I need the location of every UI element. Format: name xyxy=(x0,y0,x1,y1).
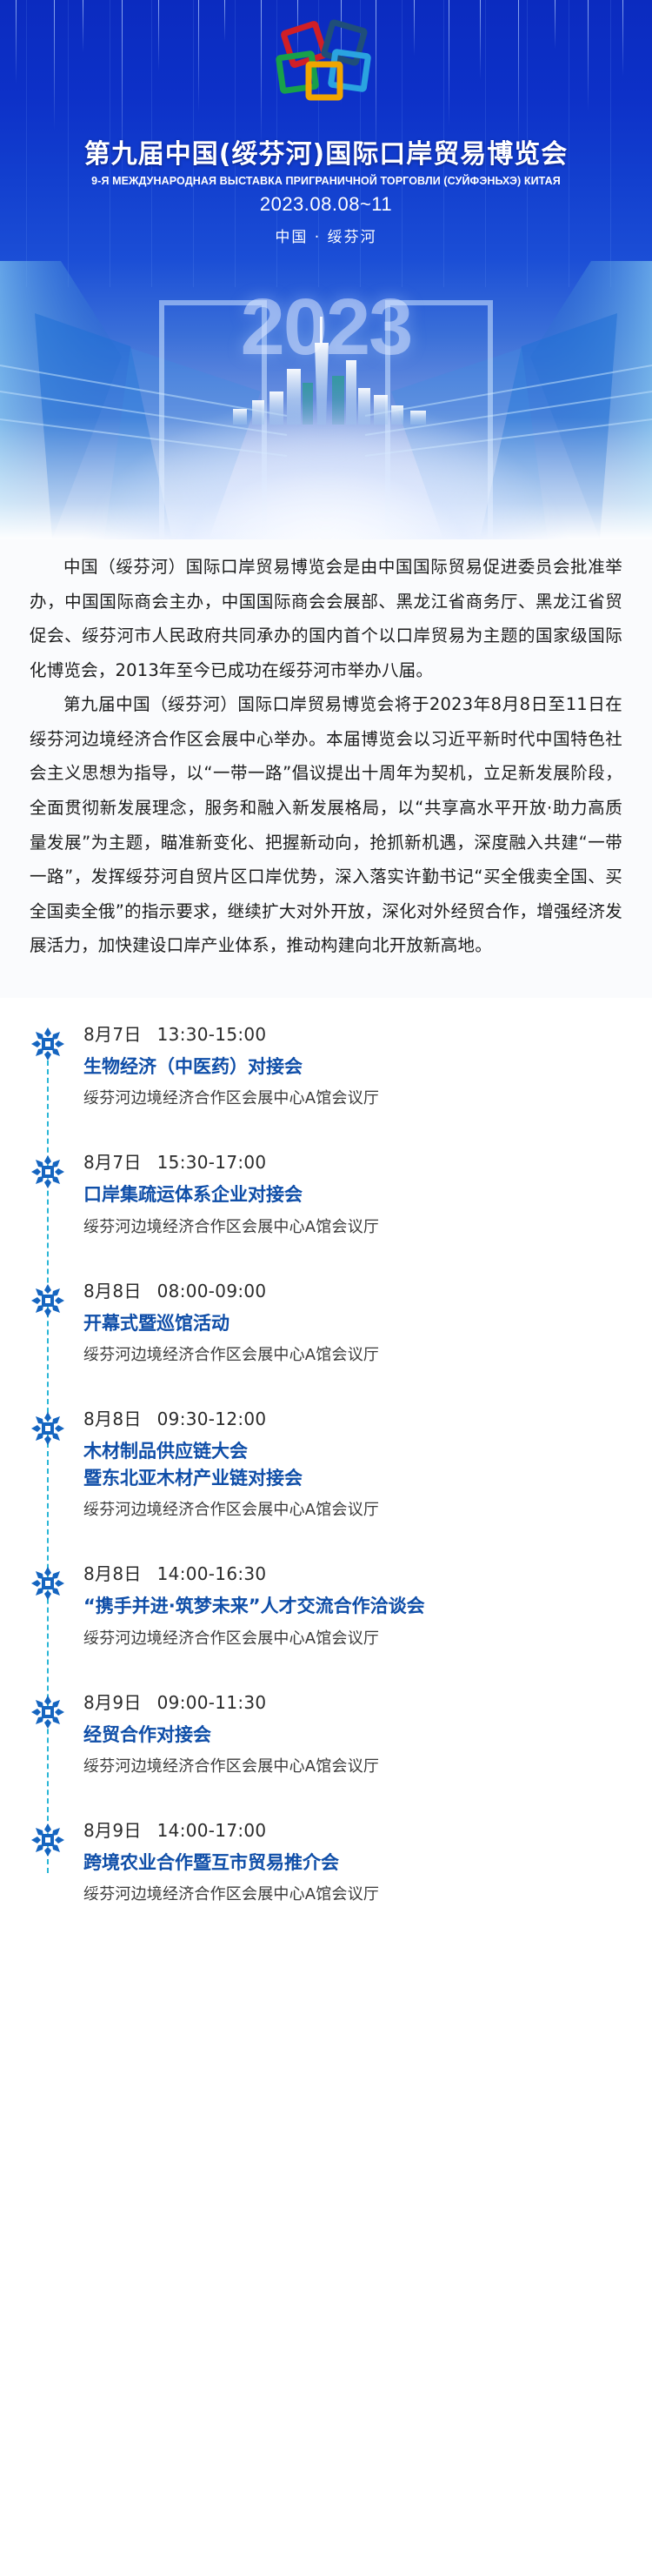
event-venue: 绥芬河边境经济合作区会展中心A馆会议厅 xyxy=(83,1342,628,1365)
brand-titles: 第九届中国(绥芬河)国际口岸贸易博览会 9-Я МЕЖДУНАРОДНАЯ ВЫ… xyxy=(0,132,652,187)
snowflake-marker-icon xyxy=(30,1822,66,1858)
page-subtitle-russian: 9-Я МЕЖДУНАРОДНАЯ ВЫСТАВКА ПРИГРАНИЧНОЙ … xyxy=(0,175,652,187)
event-city: 中国 · 绥芬河 xyxy=(0,224,652,246)
event-date: 8月8日 xyxy=(83,1563,142,1584)
event-venue: 绥芬河边境经济合作区会展中心A馆会议厅 xyxy=(83,1754,628,1776)
event-datetime: 8月8日09:30-12:00 xyxy=(83,1405,628,1430)
event-item[interactable]: 8月7日13:30-15:00生物经济（中医药）对接会绥芬河边境经济合作区会展中… xyxy=(0,1020,652,1108)
page-title: 第九届中国(绥芬河)国际口岸贸易博览会 xyxy=(0,132,652,171)
event-item[interactable]: 8月9日09:00-11:30经贸合作对接会绥芬河边境经济合作区会展中心A馆会议… xyxy=(0,1689,652,1776)
event-datetime: 8月7日13:30-15:00 xyxy=(83,1020,628,1046)
event-item[interactable]: 8月8日08:00-09:00开幕式暨巡馆活动绥芬河边境经济合作区会展中心A馆会… xyxy=(0,1277,652,1365)
event-time: 14:00-17:00 xyxy=(157,1820,267,1841)
hero-banner: 2023 xyxy=(0,0,652,539)
event-venue: 绥芬河边境经济合作区会展中心A馆会议厅 xyxy=(83,1882,628,1904)
snowflake-marker-icon xyxy=(30,1694,66,1730)
event-datetime: 8月8日14:00-16:30 xyxy=(83,1560,628,1585)
event-venue: 绥芬河边境经济合作区会展中心A馆会议厅 xyxy=(83,1086,628,1108)
snowflake-marker-icon xyxy=(30,1154,66,1190)
snowflake-marker-icon xyxy=(30,1410,66,1447)
event-title: 跨境农业合作暨互市贸易推介会 xyxy=(83,1850,628,1876)
snowflake-marker-icon xyxy=(30,1026,66,1062)
event-title: “携手并进·筑梦未来”人才交流合作洽谈会 xyxy=(83,1593,628,1619)
event-date: 8月8日 xyxy=(83,1281,142,1301)
event-item[interactable]: 8月9日14:00-17:00跨境农业合作暨互市贸易推介会绥芬河边境经济合作区会… xyxy=(0,1817,652,1904)
event-datetime: 8月8日08:00-09:00 xyxy=(83,1277,628,1302)
event-time: 13:30-15:00 xyxy=(157,1024,267,1045)
event-venue: 绥芬河边境经济合作区会展中心A馆会议厅 xyxy=(83,1497,628,1520)
event-date: 2023.08.08~11 xyxy=(0,193,652,216)
event-title: 暨东北亚木材产业链对接会 xyxy=(83,1465,628,1491)
event-title: 开幕式暨巡馆活动 xyxy=(83,1310,628,1336)
event-item[interactable]: 8月8日09:30-12:00木材制品供应链大会暨东北亚木材产业链对接会绥芬河边… xyxy=(0,1405,652,1520)
event-list: 8月7日13:30-15:00生物经济（中医药）对接会绥芬河边境经济合作区会展中… xyxy=(0,1020,652,1905)
event-item[interactable]: 8月8日14:00-16:30“携手并进·筑梦未来”人才交流合作洽谈会绥芬河边境… xyxy=(0,1560,652,1648)
intro-section: 中国（绥芬河）国际口岸贸易博览会是由中国国际贸易促进委员会批准举办，中国国际商会… xyxy=(0,539,652,998)
city-skyline-graphic xyxy=(183,311,469,425)
expo-poster-page: 2023 xyxy=(0,0,652,1957)
event-date: 8月9日 xyxy=(83,1692,142,1713)
snowflake-marker-icon xyxy=(30,1565,66,1602)
event-time: 14:00-16:30 xyxy=(157,1563,267,1584)
snowflake-marker-icon xyxy=(30,1282,66,1319)
event-title: 生物经济（中医药）对接会 xyxy=(83,1054,628,1080)
event-date: 8月8日 xyxy=(83,1408,142,1429)
event-time: 08:00-09:00 xyxy=(157,1281,267,1301)
event-title: 口岸集疏运体系企业对接会 xyxy=(83,1181,628,1208)
event-datetime: 8月9日14:00-17:00 xyxy=(83,1817,628,1842)
event-item[interactable]: 8月7日15:30-17:00口岸集疏运体系企业对接会绥芬河边境经济合作区会展中… xyxy=(0,1148,652,1236)
event-time: 15:30-17:00 xyxy=(157,1152,267,1173)
event-time: 09:00-11:30 xyxy=(157,1692,267,1713)
event-datetime: 8月9日09:00-11:30 xyxy=(83,1689,628,1714)
schedule-section: 8月7日13:30-15:00生物经济（中医药）对接会绥芬河边境经济合作区会展中… xyxy=(0,998,652,1957)
intro-paragraph-1: 中国（绥芬河）国际口岸贸易博览会是由中国国际贸易促进委员会批准举办，中国国际商会… xyxy=(30,550,622,687)
year-graphic: 2023 xyxy=(139,287,513,418)
event-date: 8月7日 xyxy=(83,1024,142,1045)
intro-paragraph-2: 第九届中国（绥芬河）国际口岸贸易博览会将于2023年8月8日至11日在绥芬河边境… xyxy=(30,687,622,963)
event-date: 8月7日 xyxy=(83,1152,142,1173)
event-title: 木材制品供应链大会 xyxy=(83,1438,628,1464)
event-title: 经贸合作对接会 xyxy=(83,1722,628,1748)
event-time: 09:30-12:00 xyxy=(157,1408,267,1429)
event-datetime: 8月7日15:30-17:00 xyxy=(83,1148,628,1174)
event-date: 8月9日 xyxy=(83,1820,142,1841)
event-venue: 绥芬河边境经济合作区会展中心A馆会议厅 xyxy=(83,1214,628,1237)
expo-logo xyxy=(274,16,378,111)
event-venue: 绥芬河边境经济合作区会展中心A馆会议厅 xyxy=(83,1626,628,1649)
